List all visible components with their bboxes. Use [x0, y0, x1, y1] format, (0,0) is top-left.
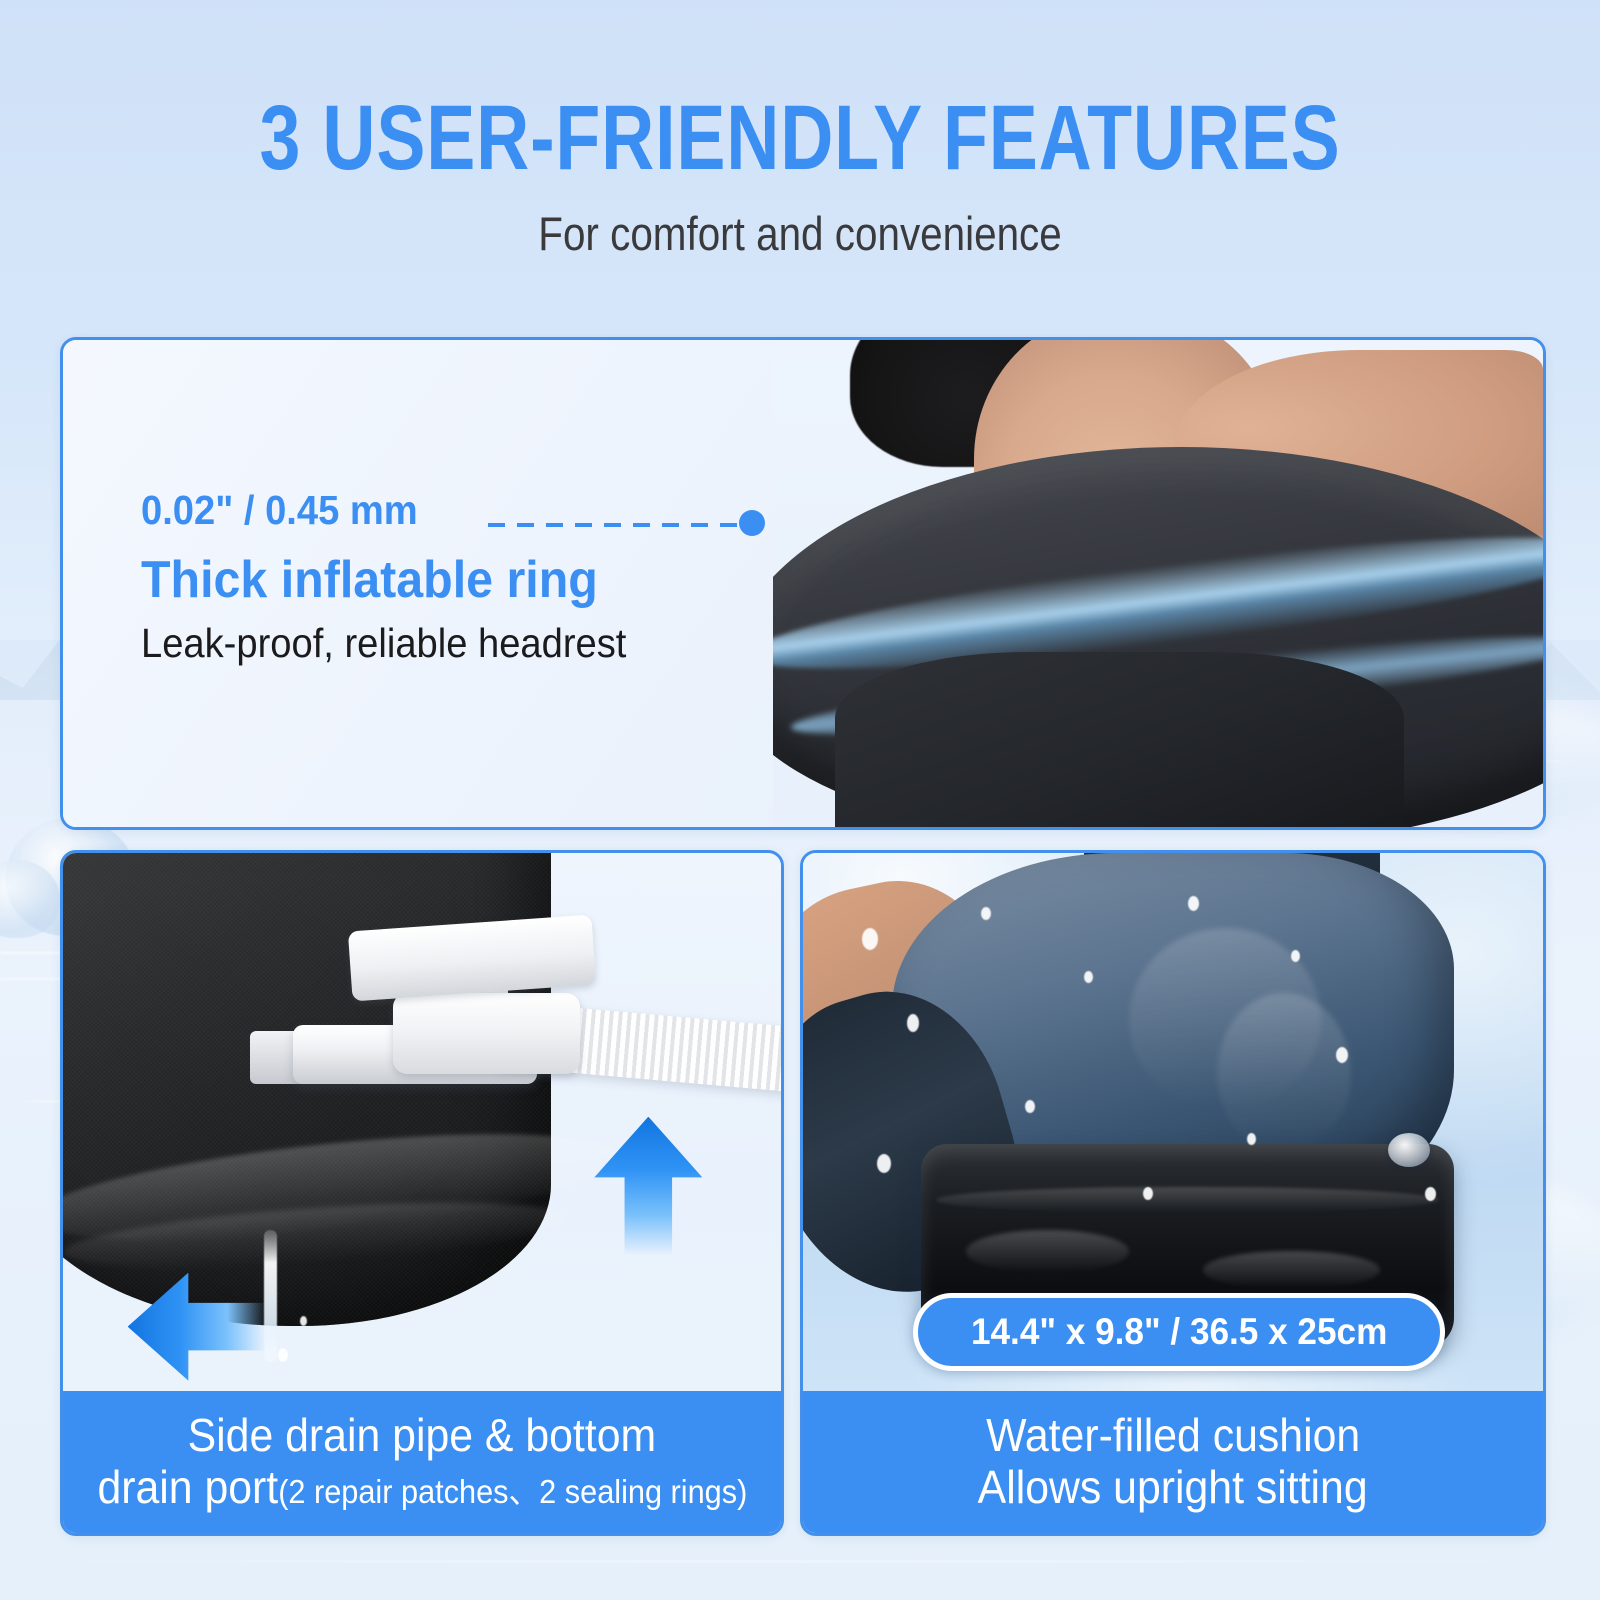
cushion-valve-icon [1388, 1133, 1430, 1167]
water-splash [1425, 1187, 1436, 1201]
page-subtitle: For comfort and convenience [112, 184, 1488, 257]
cushion-ripple [1203, 1251, 1381, 1289]
ball-valve-body [393, 993, 580, 1074]
water-droplet [278, 1348, 288, 1362]
ring-feature-description: Leak-proof, reliable headrest [141, 620, 626, 667]
cushion-ripple [966, 1230, 1129, 1273]
feature-panel-inflatable-ring[interactable]: 0.02" / 0.45 mm Thick inflatable ring Le… [60, 337, 1546, 830]
header: 3 USER-FRIENDLY FEATURES For comfort and… [0, 0, 1600, 257]
shorts-fold [1217, 993, 1350, 1154]
cushion-dimension-text: 14.4" x 9.8" / 36.5 x 25cm [971, 1311, 1387, 1353]
drain-caption-bar: Side drain pipe & bottom drain port(2 re… [63, 1391, 781, 1533]
water-splash [1336, 1047, 1348, 1063]
drain-caption-note: (2 repair patches、2 sealing rings) [278, 1473, 747, 1510]
feature-panel-side-drain[interactable]: Side drain pipe & bottom drain port(2 re… [60, 850, 784, 1536]
ring-photo [773, 340, 1543, 827]
cushion-photo: 14.4" x 9.8" / 36.5 x 25cm [803, 853, 1543, 1391]
cushion-caption-line-1: Water-filled cushion [986, 1410, 1360, 1462]
arrow-up-icon [594, 1117, 702, 1255]
leader-endpoint-dot-icon [739, 510, 765, 536]
dashed-leader-line [488, 523, 746, 527]
cushion-caption-bar: Water-filled cushion Allows upright sitt… [803, 1391, 1543, 1533]
feature-panel-water-cushion[interactable]: 14.4" x 9.8" / 36.5 x 25cm Water-filled … [800, 850, 1546, 1536]
water-splash [1247, 1133, 1256, 1145]
cushion-dimension-badge: 14.4" x 9.8" / 36.5 x 25cm [913, 1293, 1445, 1371]
water-splash [1188, 896, 1199, 911]
draining-water-stream [264, 1230, 277, 1362]
cushion-seam [936, 1187, 1439, 1214]
drain-caption-line-2: drain port(2 repair patches、2 sealing ri… [97, 1462, 747, 1514]
infographic-canvas: 3 USER-FRIENDLY FEATURES For comfort and… [0, 0, 1600, 1600]
ring-feature-title: Thick inflatable ring [141, 550, 626, 610]
water-splash [981, 907, 991, 920]
drain-photo [63, 853, 781, 1391]
ice-streak [0, 1560, 1600, 1563]
water-droplet [300, 1316, 307, 1326]
drain-caption-main: drain port [97, 1461, 278, 1513]
drain-caption-line-1: Side drain pipe & bottom [188, 1410, 657, 1462]
person-shirt [835, 652, 1404, 827]
water-splash [907, 1014, 919, 1032]
page-title: 3 USER-FRIENDLY FEATURES [160, 0, 1440, 184]
ring-callout: 0.02" / 0.45 mm Thick inflatable ring Le… [141, 487, 663, 667]
cushion-caption-line-2: Allows upright sitting [978, 1462, 1368, 1514]
